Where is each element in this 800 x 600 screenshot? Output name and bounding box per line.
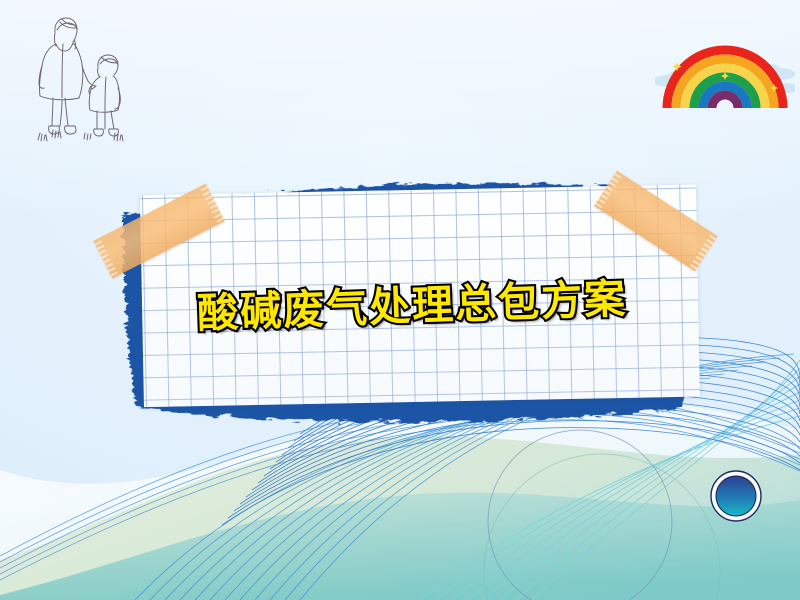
- rainbow-illustration: [655, 32, 795, 110]
- gradient-sphere-accent: [710, 470, 762, 522]
- presentation-slide: 酸碱废气处理总包方案: [0, 0, 800, 600]
- mother-and-child-line-drawing: [18, 10, 168, 150]
- rainbow-band-purple: [712, 95, 738, 108]
